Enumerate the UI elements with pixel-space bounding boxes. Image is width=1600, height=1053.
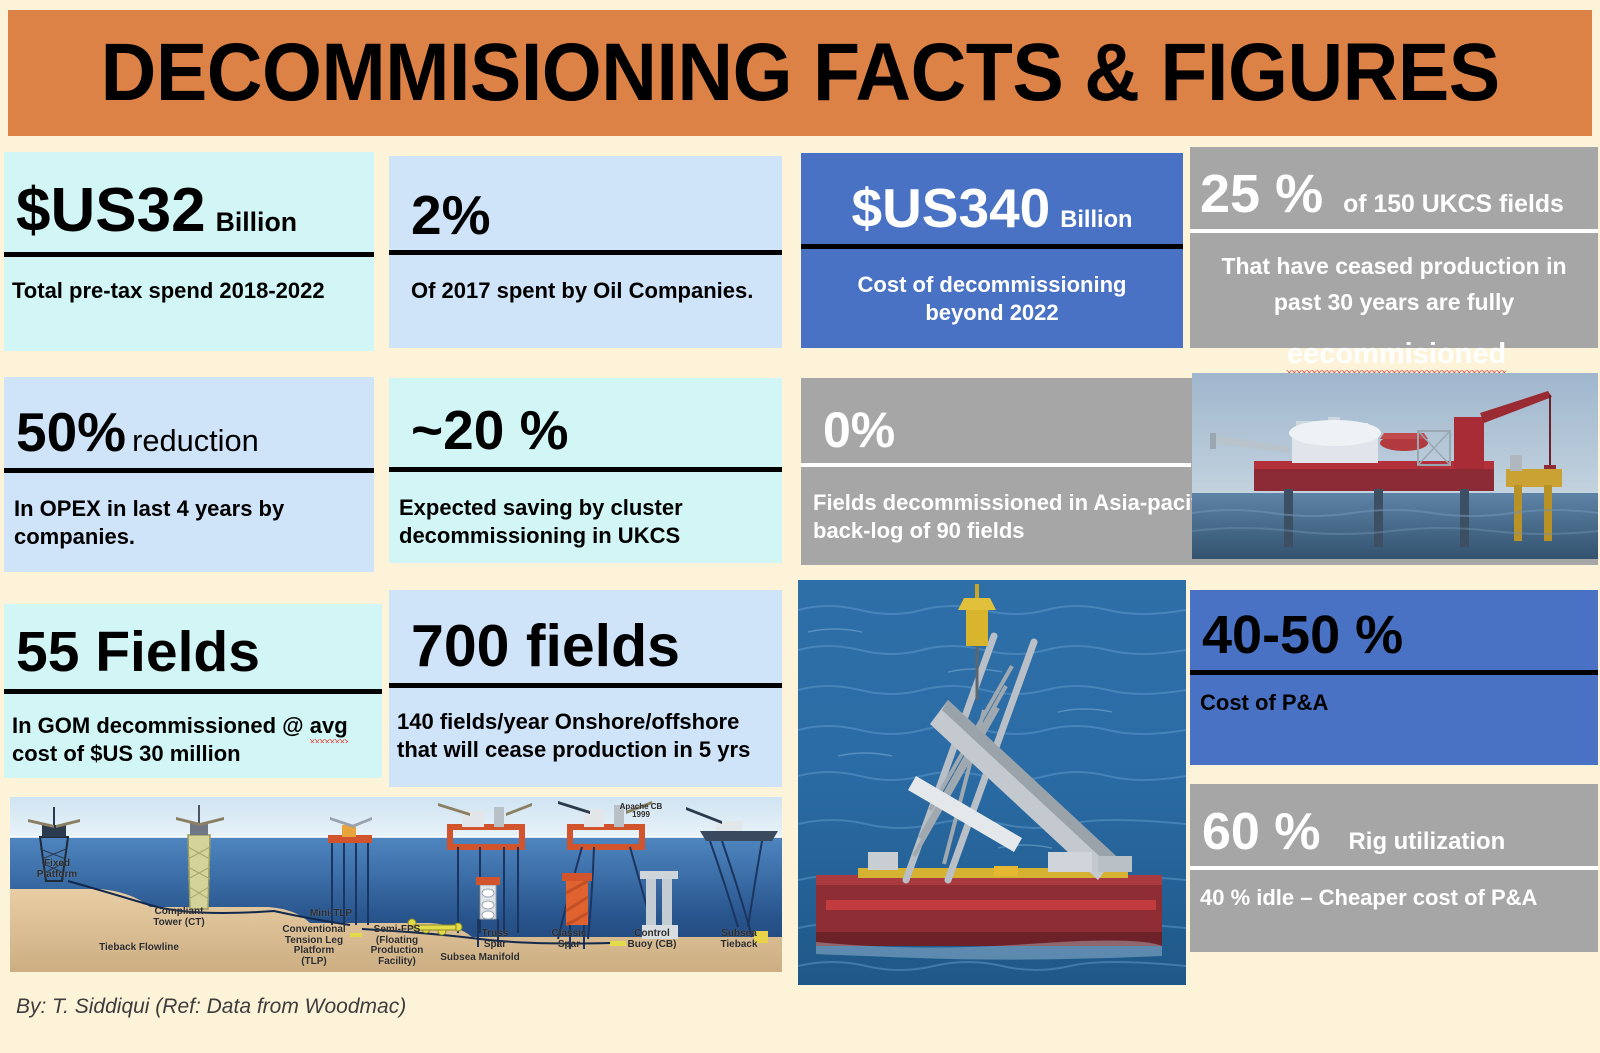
fact-value-number: 60 % xyxy=(1202,806,1321,858)
fact-value-number: 50% xyxy=(16,405,126,460)
fact-card-forty-fifty-percent-pa: 40-50 % Cost of P&A xyxy=(1190,590,1598,765)
fact-card-us32-billion: $US32 Billion Total pre-tax spend 2018-2… xyxy=(4,152,374,351)
fact-value: 50% reduction xyxy=(4,377,374,460)
fact-description: Expected saving by cluster decommissioni… xyxy=(389,472,782,550)
fact-description-line2: cost of $US 30 million xyxy=(12,741,241,766)
misspelled-word: eecommisioned xyxy=(1287,338,1506,371)
fact-value-number: 2% xyxy=(411,188,491,243)
fact-value: 25 % of 150 UKCS fields xyxy=(1190,147,1598,221)
footer-credit: By: T. Siddiqui (Ref: Data from Woodmac) xyxy=(16,995,406,1019)
fact-value: ~20 % xyxy=(389,378,782,458)
fact-value-unit: of 150 UKCS fields xyxy=(1343,193,1564,218)
fact-value-number: $US32 xyxy=(16,180,206,242)
misspelled-word: avg xyxy=(310,712,348,740)
fact-value-unit: Billion xyxy=(1060,209,1132,233)
fact-card-twenty-percent-cluster: ~20 % Expected saving by cluster decommi… xyxy=(389,378,782,563)
fact-card-sixty-percent-rig-utilization: 60 % Rig utilization 40 % idle – Cheaper… xyxy=(1190,784,1598,952)
page-title: DECOMMISIONING FACTS & FIGURES xyxy=(100,32,1499,114)
platform-removal-vessel-photo xyxy=(798,580,1186,985)
overflow-word-eecommisioned: eecommisioned xyxy=(1287,338,1506,371)
fact-description: Total pre-tax spend 2018-2022 xyxy=(4,257,374,305)
infographic-page: DECOMMISIONING FACTS & FIGURES $US32 Bil… xyxy=(0,0,1600,1053)
diagram-label-fixed-platform: Fixed Platform xyxy=(28,859,86,880)
fact-value-number: 55 Fields xyxy=(16,624,260,681)
fact-value: 55 Fields xyxy=(4,604,382,681)
fact-value: 40-50 % xyxy=(1190,590,1598,662)
fact-card-twentyfive-percent: 25 % of 150 UKCS fields That have ceased… xyxy=(1190,147,1598,348)
fact-value: 700 fields xyxy=(389,590,782,676)
fact-value-number: $US340 xyxy=(852,181,1051,236)
diagram-label-subsea-tieback: Subsea Tieback xyxy=(710,929,768,950)
fact-value-unit: Rig utilization xyxy=(1349,830,1506,854)
diagram-label-subsea-manifold: Subsea Manifold xyxy=(428,953,532,964)
fact-value-number: 40-50 % xyxy=(1202,608,1403,662)
fact-value: 2% xyxy=(389,156,782,243)
offshore-jackup-rig-photo xyxy=(1192,373,1598,559)
fact-card-two-percent: 2% Of 2017 spent by Oil Companies. xyxy=(389,156,782,348)
diagram-label-apache-cb: Apache CB 1999 xyxy=(614,803,668,820)
fact-value: $US340 Billion xyxy=(801,153,1183,236)
fact-card-us340-billion: $US340 Billion Cost of decommissioning b… xyxy=(801,153,1183,348)
fact-card-fiftyfive-fields: 55 Fields In GOM decommissioned @ avg co… xyxy=(4,604,382,778)
fact-card-seven-hundred-fields: 700 fields 140 fields/year Onshore/offsh… xyxy=(389,590,782,787)
fact-value-unit: Billion xyxy=(216,209,297,236)
diagram-label-tieback-flowline: Tieback Flowline xyxy=(84,943,194,954)
diagram-label-classic-spar: Classic Spar xyxy=(544,929,594,950)
diagram-label-compliant-tower: Compliant Tower (CT) xyxy=(138,907,220,928)
fact-description: Cost of decommissioning beyond 2022 xyxy=(801,249,1183,327)
diagram-label-mini-tlp: Mini-TLP xyxy=(298,909,364,920)
diagram-label-truss-spar: Truss Spar xyxy=(472,929,518,950)
fact-value: 60 % Rig utilization xyxy=(1190,784,1598,858)
offshore-structures-schematic-diagram: Fixed Platform Compliant Tower (CT) Mini… xyxy=(10,797,782,972)
fact-description: 140 fields/year Onshore/offshore that wi… xyxy=(389,688,782,764)
diagram-label-semi-fps: Semi-FPS (Floating Production Facility) xyxy=(360,925,434,967)
fact-description: Cost of P&A xyxy=(1190,675,1598,717)
fact-value-number: 25 % xyxy=(1200,167,1323,221)
diagram-label-control-buoy: Control Buoy (CB) xyxy=(622,929,682,950)
fact-description: Of 2017 spent by Oil Companies. xyxy=(389,255,782,305)
fact-description-line1: In GOM decommissioned @ xyxy=(12,713,310,738)
fact-value: $US32 Billion xyxy=(4,152,374,242)
fact-description: That have ceased production in past 30 y… xyxy=(1190,233,1598,320)
fact-description: In OPEX in last 4 years by companies. xyxy=(4,473,374,551)
fact-description: 40 % idle – Cheaper cost of P&A xyxy=(1190,870,1598,912)
fact-value-number: 0% xyxy=(823,405,895,455)
fact-description: In GOM decommissioned @ avg cost of $US … xyxy=(4,694,382,768)
fact-card-fifty-percent-reduction: 50% reduction In OPEX in last 4 years by… xyxy=(4,377,374,572)
title-banner: DECOMMISIONING FACTS & FIGURES xyxy=(8,10,1592,136)
fact-value-unit: reduction xyxy=(132,426,259,457)
fact-value-number: ~20 % xyxy=(411,403,568,458)
fact-value-number: 700 fields xyxy=(411,617,680,676)
diagram-label-conventional-tlp: Conventional Tension Leg Platform (TLP) xyxy=(272,925,356,967)
